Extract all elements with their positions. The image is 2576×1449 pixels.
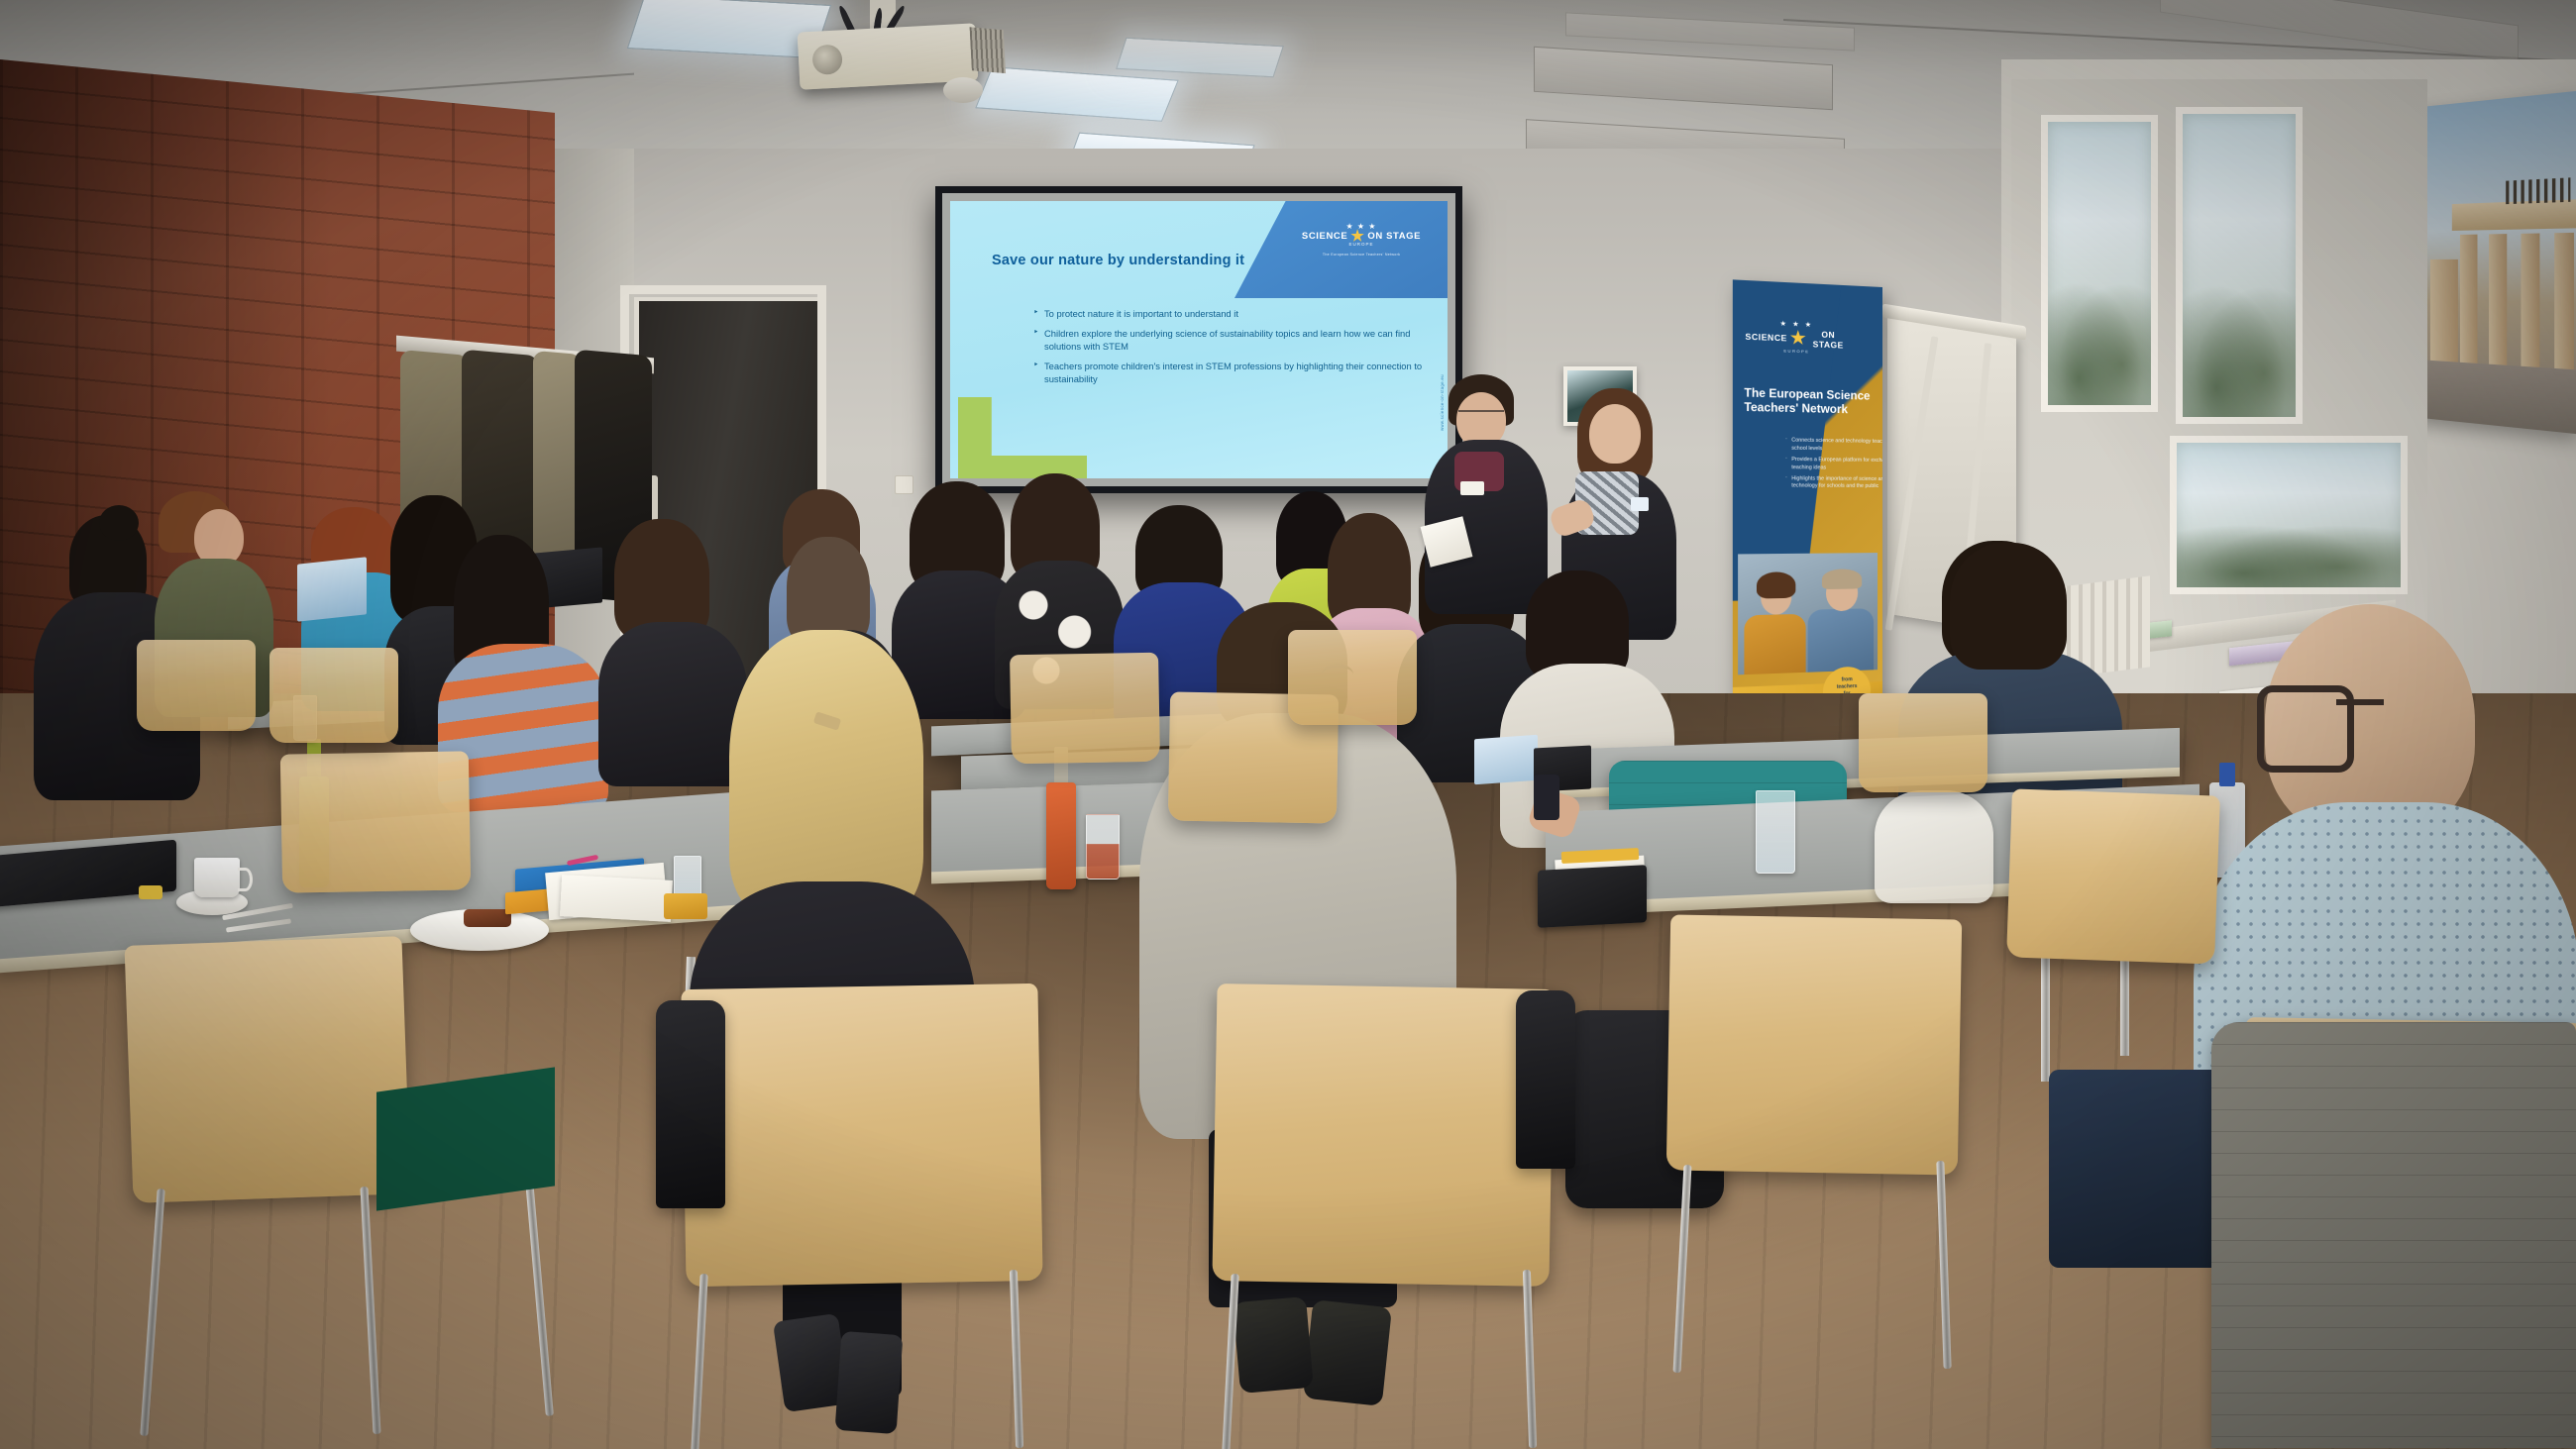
banner-photo-person-hair — [1822, 569, 1862, 589]
banner-logo: ★ ★ ★ SCIENCE ★ ON STAGE EUROPE — [1745, 319, 1847, 356]
smoke-detector-icon — [943, 77, 983, 103]
slide-green-accent — [958, 397, 1087, 478]
projection-screen: ★ ★ ★ SCIENCE ★ ON STAGE EUROPE The Euro… — [935, 186, 1462, 493]
slide-bullet: To protect nature it is important to und… — [1033, 307, 1448, 321]
chair[interactable] — [137, 640, 256, 731]
projector-lens — [811, 44, 843, 75]
banner-bullet: Provides a European platform for exchang… — [1785, 457, 1882, 472]
shoe — [1233, 1296, 1314, 1394]
person-hair-bun — [99, 505, 139, 541]
logo-word-left: SCIENCE — [1302, 231, 1347, 242]
boot — [835, 1331, 904, 1434]
rollup-banner: ★ ★ ★ SCIENCE ★ ON STAGE EUROPE The Euro… — [1733, 279, 1882, 738]
window-view-trees — [2183, 271, 2296, 417]
presenter-head — [1589, 404, 1641, 464]
logo-tagline: The European Science Teachers' Network — [1287, 253, 1436, 257]
window-view-trees — [2177, 518, 2401, 587]
shoe — [1303, 1299, 1392, 1406]
person-hair — [1950, 543, 2067, 670]
banner-photo — [1738, 553, 1878, 674]
banner-bullet: Highlights the importance of science and… — [1785, 475, 1882, 491]
workshop-photo-scene: ★ ★ ★ SCIENCE ★ ON STAGE EUROPE The Euro… — [0, 0, 2576, 1449]
chair-cushion-green — [376, 1067, 555, 1210]
slide-bullet-list: To protect nature it is important to und… — [994, 307, 1448, 392]
coffee-cup[interactable] — [194, 858, 240, 897]
banner-headline: The European Science Teachers' Network — [1744, 386, 1874, 418]
banner-photo-person-hair — [1757, 571, 1795, 598]
sugar-packet — [139, 885, 162, 899]
banner-bullet: Connects science and technology teachers… — [1785, 438, 1882, 455]
snack-item — [664, 893, 707, 919]
handout-papers[interactable] — [560, 875, 673, 922]
banner-photo-person-body — [1808, 608, 1874, 673]
slide-bullet: Teachers promote children's interest in … — [1033, 360, 1448, 386]
juice-bottle[interactable] — [1046, 782, 1076, 889]
banner-star-icon: ★ — [1790, 332, 1806, 345]
chair[interactable] — [1010, 653, 1160, 765]
slide-watermark-url: www.science-on-stage.eu — [1440, 374, 1445, 431]
person-hair-blonde — [729, 630, 923, 919]
photo-quadriga — [2506, 177, 2570, 204]
presenter-glasses-icon — [1458, 410, 1504, 420]
person-legs-jeans — [2049, 1070, 2237, 1268]
cup-handle — [238, 868, 253, 891]
tablet-device[interactable] — [1538, 865, 1647, 928]
photo-pillar — [2430, 259, 2458, 362]
window-view-trees — [2048, 269, 2151, 405]
screen-mat: ★ ★ ★ SCIENCE ★ ON STAGE EUROPE The Euro… — [942, 193, 1455, 486]
logo-subtitle: EUROPE — [1287, 242, 1436, 247]
slide-title: Save our nature by understanding it — [992, 253, 1244, 268]
black-draped-jacket — [656, 1000, 725, 1208]
window-pane-lower — [2170, 436, 2408, 594]
chair[interactable] — [280, 751, 471, 892]
photo-pillar — [2554, 233, 2574, 369]
bottle-cap — [2219, 763, 2235, 786]
grey-quilted-jacket — [2211, 1022, 2576, 1448]
chair[interactable] — [681, 983, 1042, 1287]
laptop[interactable] — [1474, 735, 1538, 784]
presentation-slide: ★ ★ ★ SCIENCE ★ ON STAGE EUROPE The Euro… — [950, 201, 1448, 478]
smartphone[interactable] — [1534, 775, 1559, 820]
slide-logo: ★ ★ ★ SCIENCE ★ ON STAGE EUROPE The Euro… — [1287, 223, 1436, 257]
projector-vent — [970, 27, 1007, 73]
chair[interactable] — [269, 648, 398, 743]
chair[interactable] — [125, 936, 411, 1203]
slide-bullet: Children explore the underlying science … — [1033, 327, 1448, 354]
banner-word-left: SCIENCE — [1745, 332, 1786, 344]
person-torso — [598, 622, 747, 786]
chair[interactable] — [2006, 788, 2220, 964]
black-draped-jacket — [1516, 990, 1575, 1169]
window-pane — [2176, 107, 2303, 424]
juice-glass[interactable] — [1086, 814, 1120, 880]
banner-bullet-list: Connects science and technology teachers… — [1744, 437, 1882, 495]
chair[interactable] — [1666, 914, 1962, 1175]
logo-wordmark: SCIENCE ★ ON STAGE — [1287, 231, 1436, 242]
banner-photo-person-body — [1744, 614, 1805, 674]
chair[interactable] — [1288, 630, 1417, 725]
laptop[interactable] — [297, 557, 367, 621]
presenter-name-badge — [1460, 481, 1484, 495]
chair[interactable] — [1859, 693, 1987, 792]
window-pane — [2041, 115, 2158, 412]
drinking-glass[interactable] — [1756, 790, 1795, 874]
brandenburg-gate-photo — [2402, 90, 2576, 435]
pastry-crumbs — [464, 909, 511, 927]
photo-pillar — [2460, 235, 2478, 363]
wall-socket — [895, 475, 913, 494]
chair[interactable] — [1212, 983, 1554, 1287]
photo-pillar — [2521, 234, 2539, 367]
glasses-bridge — [2336, 699, 2384, 705]
banner-word-right: ON STAGE — [1809, 329, 1847, 351]
logo-star-icon: ★ — [1350, 231, 1364, 242]
presenter-name-badge — [1631, 497, 1649, 511]
logo-word-right: ON STAGE — [1367, 231, 1421, 242]
photo-pillar — [2489, 234, 2507, 365]
plastic-bag[interactable] — [1875, 790, 1993, 903]
